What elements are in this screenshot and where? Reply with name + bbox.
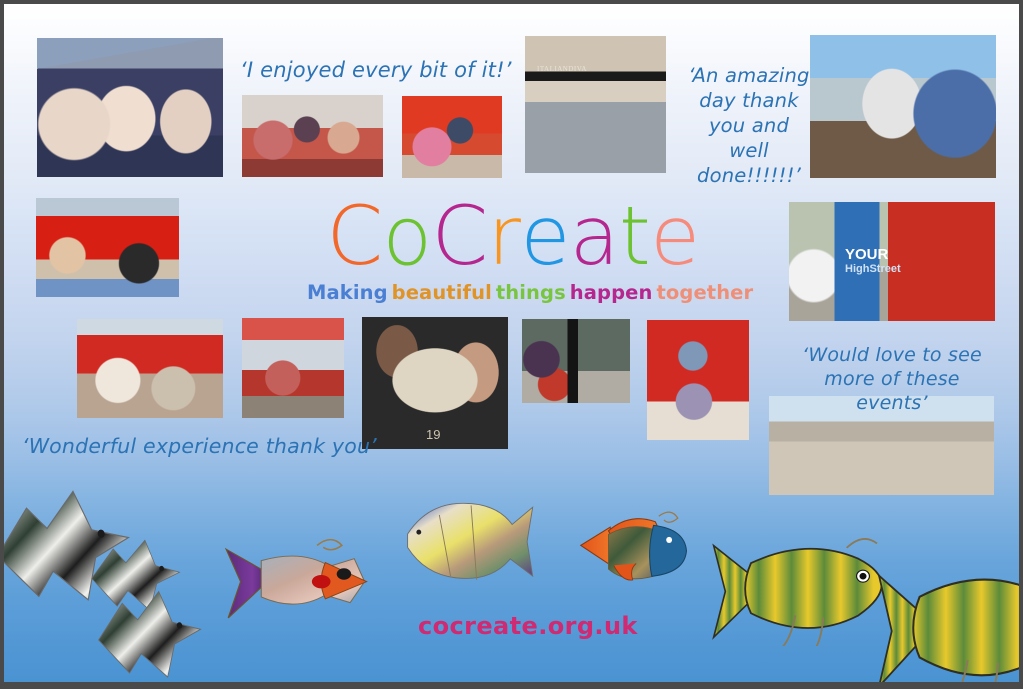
banner-subhead: HighStreet <box>845 263 901 275</box>
logo-letter-1: o <box>383 195 432 279</box>
manhole-number-text: 19 <box>426 427 440 442</box>
photo-ukulele-singers <box>37 38 223 177</box>
logo-letter-6: t <box>619 195 650 279</box>
fish-patchwork <box>402 492 542 597</box>
testimonial-quote-4: ‘Wonderful experience thank you’ <box>22 434 377 458</box>
logo-letter-7: e <box>650 195 699 279</box>
tagline-word-2: things <box>496 281 566 304</box>
logo-letter-4: e <box>520 195 569 279</box>
logo-letter-3: r <box>488 195 521 279</box>
tagline-word-0: Making <box>307 281 388 304</box>
cocreate-logo: CoCreate Makingbeautifulthingshappentoge… <box>307 195 719 304</box>
logo-wordmark: CoCreate <box>307 195 719 279</box>
fish-purple-orange <box>222 532 377 637</box>
photo-market-stall <box>77 319 223 418</box>
photo-craft-table-2 <box>402 96 502 178</box>
logo-tagline: Makingbeautifulthingshappentogether <box>307 281 719 304</box>
fish-newsprint-mid <box>87 578 226 689</box>
fish-striped-2 <box>874 552 1023 689</box>
photo-italian-diva: ITALIANDIVA <box>525 36 666 173</box>
logo-letter-2: C <box>432 195 488 279</box>
photo-hands-rubbing: 19 <box>362 317 508 449</box>
banner-headline: YOUR <box>845 246 888 263</box>
tagline-word-1: beautiful <box>392 281 492 304</box>
testimonial-quote-1: ‘I enjoyed every bit of it!’ <box>240 58 512 82</box>
logo-letter-0: C <box>326 195 382 279</box>
fish-striped-1 <box>709 526 884 646</box>
tagline-word-3: happen <box>570 281 653 304</box>
photo-craft-table-1 <box>242 95 383 177</box>
photo-shop-front-craft <box>242 318 344 418</box>
photo-painters-easels <box>810 35 996 178</box>
website-url[interactable]: cocreate.org.uk <box>418 612 638 640</box>
photo-your-highstreet: YOURHighStreet <box>789 202 995 321</box>
photo-lamppost-rubbing <box>522 319 630 403</box>
logo-letter-5: a <box>570 195 619 279</box>
shop-sign-text: ITALIANDIVA <box>537 65 587 73</box>
tagline-word-4: together <box>656 281 753 304</box>
fish-orange-blue <box>579 509 709 609</box>
testimonial-quote-2: ‘An amazing day thank you and well done!… <box>676 63 822 188</box>
photo-children-crafting <box>647 320 749 440</box>
photo-red-gazebo-craft <box>36 198 179 297</box>
testimonial-quote-3: ‘Would love to see more of these events’ <box>788 343 996 415</box>
poster-canvas: ITALIANDIVAYOURHighStreet19 <box>0 0 1023 689</box>
